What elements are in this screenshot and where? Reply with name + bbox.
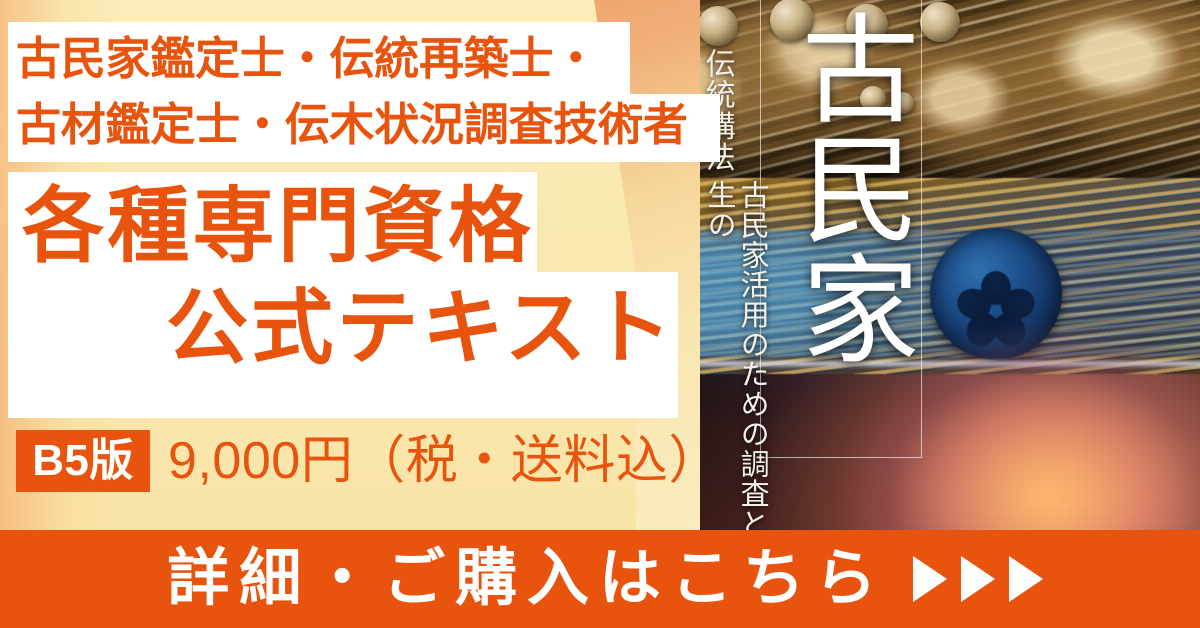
headline-line-1: 各種専門資格 [22,186,534,268]
cta-arrow-group [913,556,1043,602]
cover-title: 古民家 [768,8,916,369]
triangle-right-icon [961,556,995,602]
qualification-line-2: 古材鑑定士・伝木状況調査技術者 [16,92,722,158]
triangle-right-icon [913,556,947,602]
cover-subtitle-main: 古民家活用のための調査と再生の [702,180,768,575]
price-text: 9,000円（税・送料込） [168,430,721,492]
format-badge: B5版 [16,430,150,492]
cta-label: 詳細・ご購入はこちら [157,548,886,610]
qualification-list: 古民家鑑定士・伝統再築士・ 古材鑑定士・伝木状況調査技術者 [16,26,722,157]
qualification-line-1: 古民家鑑定士・伝統再築士・ [16,33,598,84]
promo-banner: 古民家 伝統構法 古民家活用のための調査と再生の 古民家鑑定士・伝統再築士・ 古… [0,0,1200,628]
triangle-right-icon [1009,556,1043,602]
cta-bar[interactable]: 詳細・ご購入はこちら [0,530,1200,628]
headline-line-2: 公式テキスト [166,288,675,370]
